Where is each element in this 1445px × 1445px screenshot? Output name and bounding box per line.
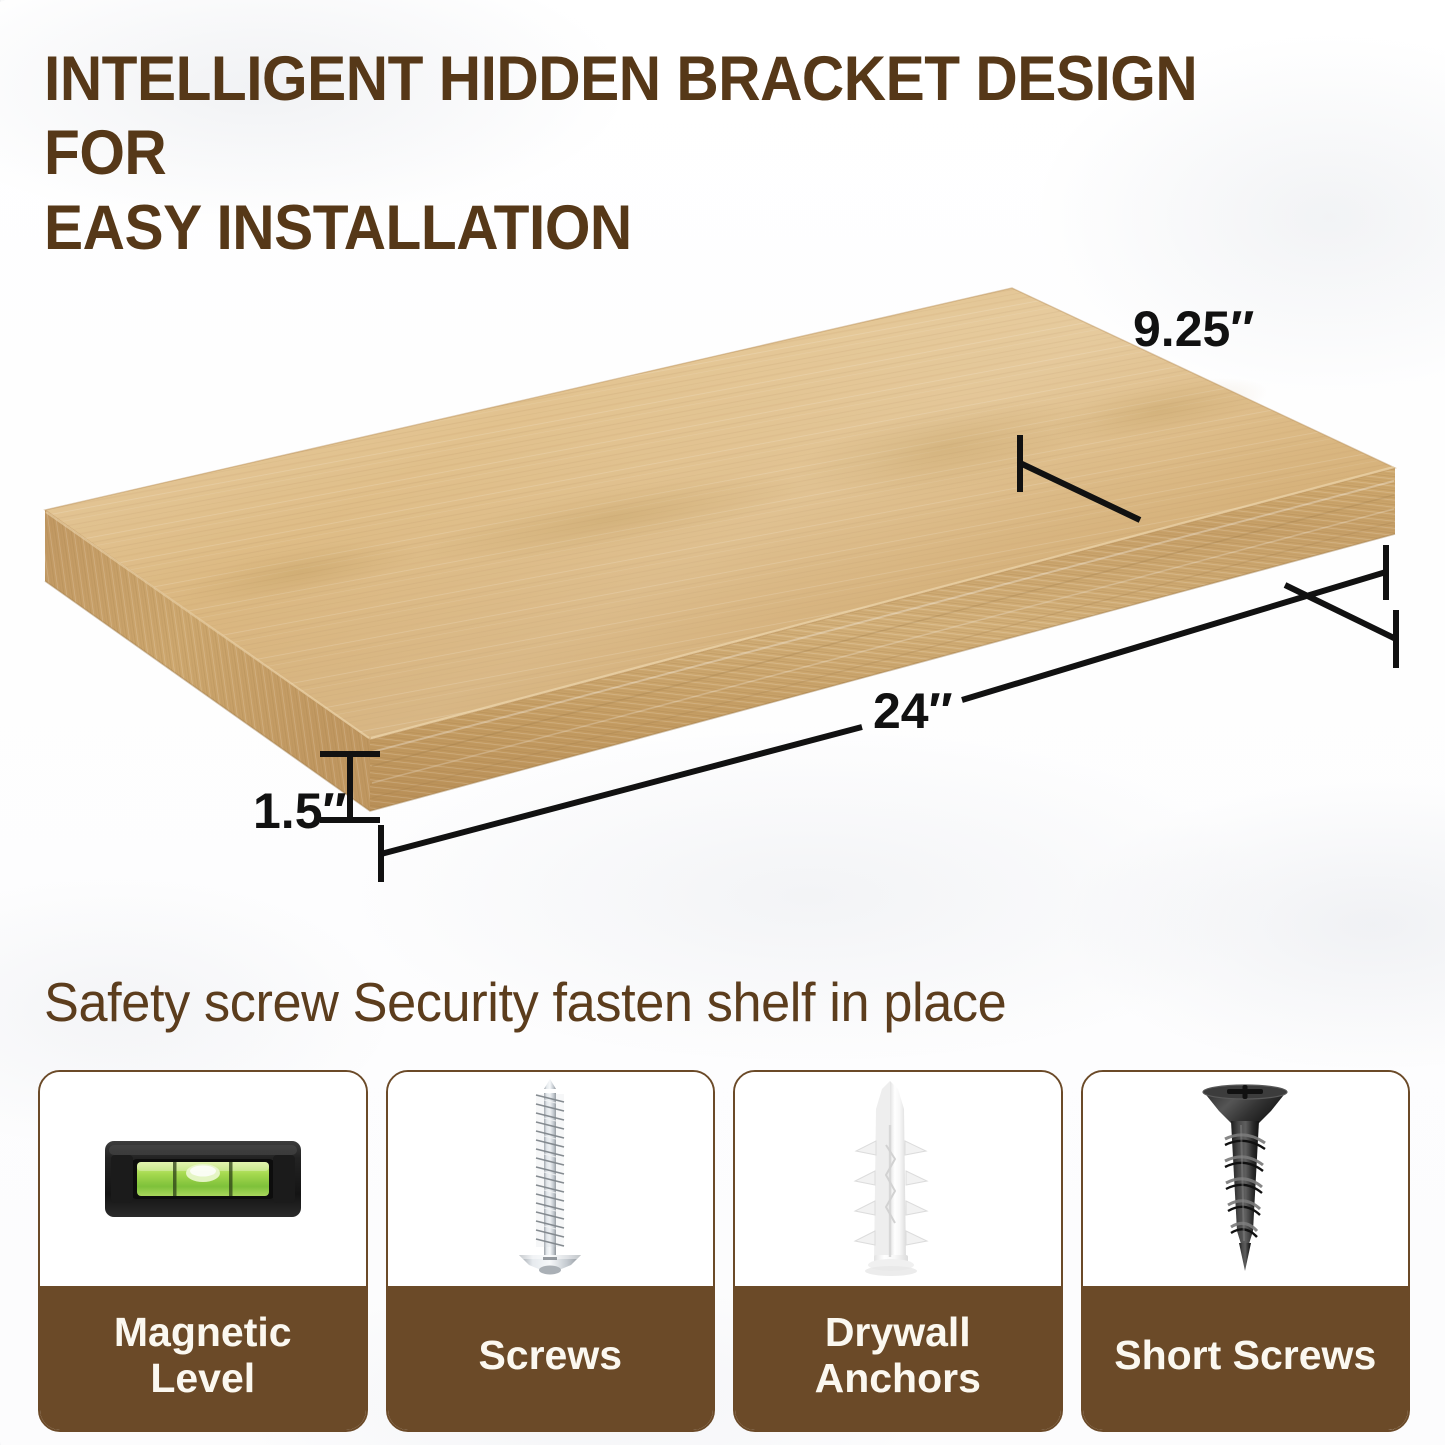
accessory-label: Drywall Anchors bbox=[735, 1286, 1061, 1430]
drywall-anchor-icon bbox=[850, 1079, 946, 1279]
accessory-card-magnetic-level[interactable]: Magnetic Level bbox=[38, 1070, 368, 1432]
dimension-label-width: 24″ bbox=[873, 682, 953, 740]
accessory-art-short-screws bbox=[1083, 1072, 1409, 1286]
accessory-card-short-screws[interactable]: Short Screws bbox=[1081, 1070, 1411, 1432]
accessory-card-drywall-anchors[interactable]: Drywall Anchors bbox=[733, 1070, 1063, 1432]
section-subtitle: Safety screw Security fasten shelf in pl… bbox=[44, 972, 1346, 1033]
accessory-art-magnetic-level bbox=[40, 1072, 366, 1286]
accessory-label: Screws bbox=[388, 1286, 714, 1430]
accessory-label: Magnetic Level bbox=[40, 1286, 366, 1430]
accessory-label: Short Screws bbox=[1083, 1286, 1409, 1430]
accessory-art-drywall-anchors bbox=[735, 1072, 1061, 1286]
accessory-card-screws[interactable]: Screws bbox=[386, 1070, 716, 1432]
short-screw-icon bbox=[1197, 1081, 1293, 1277]
long-screw-icon bbox=[513, 1079, 587, 1279]
accessory-art-screws bbox=[388, 1072, 714, 1286]
dimension-label-depth: 9.25″ bbox=[1133, 300, 1254, 358]
dimension-label-thickness: 1.5″ bbox=[253, 782, 346, 840]
accessory-card-list: Magnetic Level bbox=[38, 1070, 1410, 1432]
bubble-level-icon bbox=[103, 1135, 303, 1223]
